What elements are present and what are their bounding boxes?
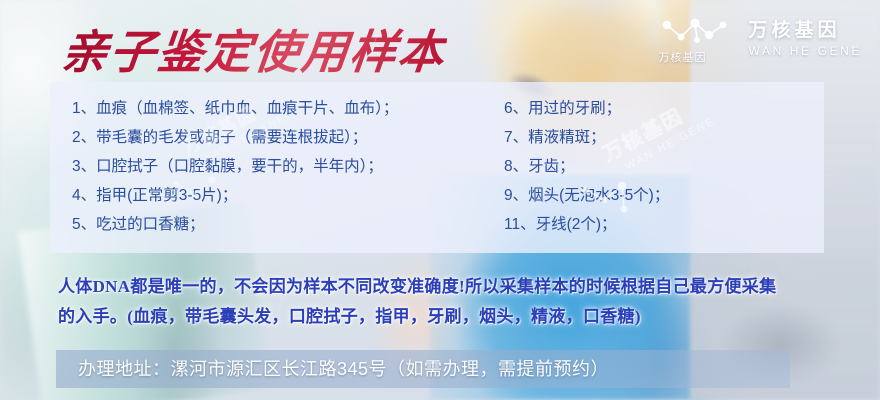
list-item: 9、烟头(无泡水3-5个)； xyxy=(504,181,824,210)
note-line-2: 的入手。(血痕，带毛囊头发，口腔拭子，指甲，牙刷，烟头，精液，口香糖) xyxy=(58,302,848,332)
list-item: 7、精液精斑； xyxy=(504,123,824,152)
brand-logo: 万核基因 万核基因 WAN HE GENE xyxy=(657,14,863,64)
list-item: 3、口腔拭子（口腔黏膜，要干的，半年内）； xyxy=(72,152,490,181)
address-text: 办理地址：漯河市源汇区长江路345号（如需办理，需提前预约） xyxy=(78,352,609,386)
note-paragraph: 人体DNA都是唯一的，不会因为样本不同改变准确度!所以采集样本的时候根据自己最方… xyxy=(58,272,848,332)
list-item: 1、血痕（血棉签、纸巾血、血痕干片、血布）； xyxy=(72,94,490,123)
logo-name-cn: 万核基因 xyxy=(749,20,863,42)
molecule-network-icon xyxy=(657,13,735,53)
note-line-1: 人体DNA都是唯一的，不会因为样本不同改变准确度!所以采集样本的时候根据自己最方… xyxy=(58,272,848,302)
sample-list-left-column: 1、血痕（血棉签、纸巾血、血痕干片、血布）； 2、带毛囊的毛发或胡子（需要连根拔… xyxy=(50,82,490,253)
page-title: 亲子鉴定使用样本 xyxy=(59,16,450,82)
logo-mark-label: 万核基因 xyxy=(659,49,707,65)
sample-list-right-column: 6、用过的牙刷； 7、精液精斑； 8、牙齿； 9、烟头(无泡水3-5个)； 11… xyxy=(490,82,824,253)
sample-list-panel: 1、血痕（血棉签、纸巾血、血痕干片、血布）； 2、带毛囊的毛发或胡子（需要连根拔… xyxy=(50,82,824,253)
list-item: 8、牙齿； xyxy=(504,152,824,181)
list-item: 11、牙线(2个)； xyxy=(504,210,824,239)
list-item: 4、指甲(正常剪3-5片)； xyxy=(72,181,490,210)
list-item: 6、用过的牙刷； xyxy=(504,94,824,123)
logo-name-en: WAN HE GENE xyxy=(749,44,863,58)
logo-wordmark: 万核基因 WAN HE GENE xyxy=(749,20,863,59)
logo-mark: 万核基因 xyxy=(657,14,735,64)
list-item: 2、带毛囊的毛发或胡子（需要连根拔起）； xyxy=(72,123,490,152)
list-item: 5、吃过的口香糖； xyxy=(72,210,490,239)
poster-canvas: 万核基因 万核基因 WAN HE GENE 亲子鉴定使用样本 1、血痕（血棉签、… xyxy=(0,0,880,400)
